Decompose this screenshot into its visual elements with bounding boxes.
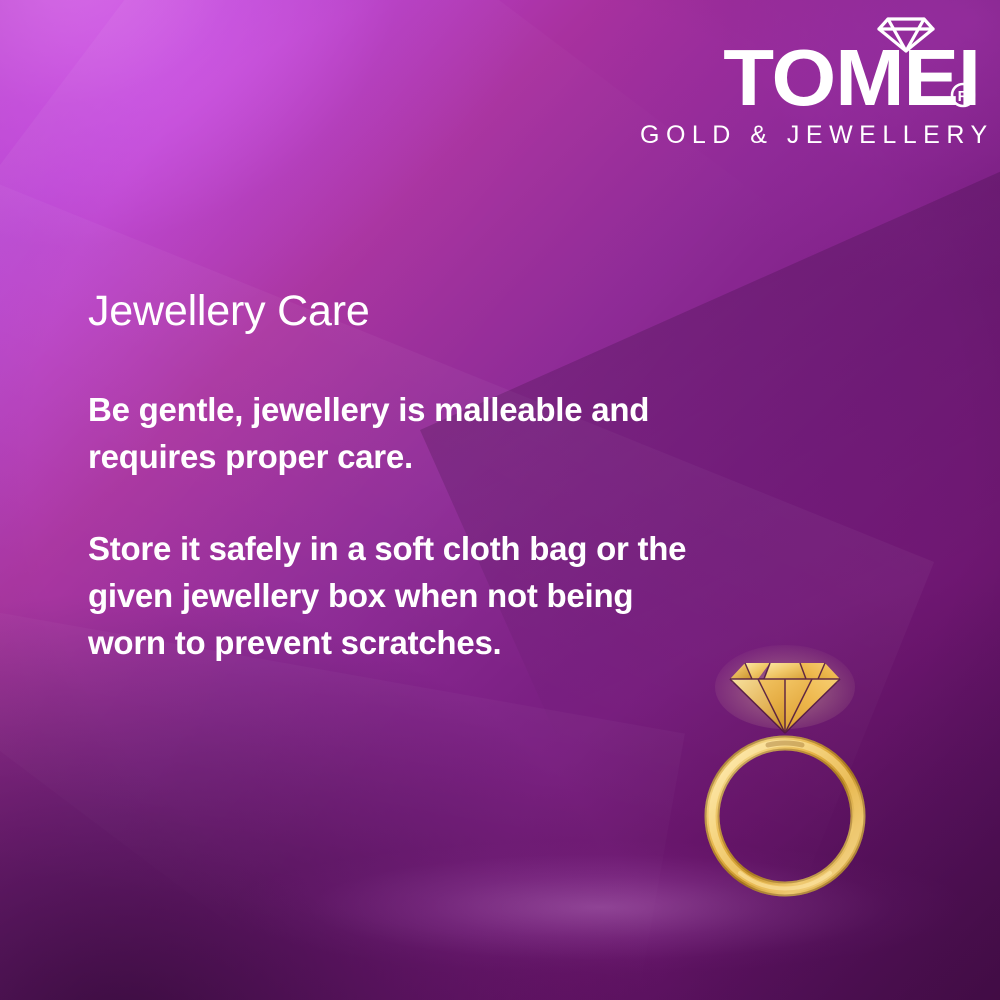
care-paragraph-2: Store it safely in a soft cloth bag or t… — [88, 526, 688, 667]
gold-ring-band-icon — [706, 737, 865, 896]
registered-trademark-icon: R — [950, 82, 976, 108]
brand-wordmark: TOMEI — [626, 40, 980, 115]
diamond-ring-illustration — [700, 645, 870, 905]
svg-text:R: R — [958, 88, 969, 105]
page-title: Jewellery Care — [88, 286, 688, 337]
jewellery-care-poster: TOMEI R GOLD & JEWELLERY Jewellery Care … — [0, 0, 1000, 1000]
diamond-ring-svg — [700, 645, 870, 905]
care-paragraph-1: Be gentle, jewellery is malleable and re… — [88, 387, 688, 481]
care-copy-block: Jewellery Care Be gentle, jewellery is m… — [88, 286, 688, 667]
brand-tagline: GOLD & JEWELLERY — [640, 121, 978, 150]
brand-logo: TOMEI R GOLD & JEWELLERY — [640, 16, 980, 150]
